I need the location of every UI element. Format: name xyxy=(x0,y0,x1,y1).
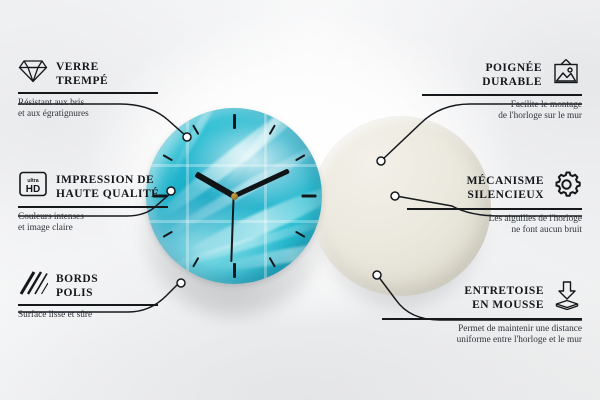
callout-title-line2: TREMPÉ xyxy=(56,74,108,88)
callout-title-line2: SILENCIEUX xyxy=(467,188,544,202)
ultra-hd-icon: ultra HD xyxy=(18,170,48,203)
callout-rule xyxy=(422,94,582,96)
callout-desc-line1: Résistant aux bris xyxy=(18,98,158,110)
callout-rule xyxy=(382,318,582,320)
gear-icon xyxy=(552,170,582,205)
callout-desc-line2: de l'horloge sur le mur xyxy=(422,111,582,123)
callout-title-line1: BORDS xyxy=(56,272,98,286)
callout-desc-line2: et image claire xyxy=(18,223,168,235)
callout-desc-line1: Couleurs intenses xyxy=(18,212,168,224)
callout-title-line2: POLIS xyxy=(56,286,98,300)
svg-text:HD: HD xyxy=(26,184,40,195)
callout-rule xyxy=(407,208,582,210)
callout-verre-trempe: VERRE TREMPÉ Résistant aux bris et aux é… xyxy=(18,58,158,121)
callout-bords-polis: BORDS POLIS Surface lisse et sûre xyxy=(18,270,158,321)
callout-title-line1: VERRE xyxy=(56,60,108,74)
press-down-icon xyxy=(552,280,582,315)
callout-desc-line2: uniforme entre l'horloge et le mur xyxy=(382,335,582,347)
diagonal-stripes-icon xyxy=(18,270,48,301)
callout-title-line2: HAUTE QUALITÉ xyxy=(56,187,159,201)
callout-mecanisme-silencieux: MÉCANISME SILENCIEUX Les aiguilles de l'… xyxy=(407,170,582,237)
picture-frame-icon xyxy=(550,58,582,91)
callout-desc-line2: ne font aucun bruit xyxy=(407,225,582,237)
callout-rule xyxy=(18,92,158,94)
callout-poignee-durable: POIGNÉE DURABLE Facilite le montage de l… xyxy=(422,58,582,123)
callout-title-line1: IMPRESSION DE xyxy=(56,173,159,187)
infographic-canvas: VERRE TREMPÉ Résistant aux bris et aux é… xyxy=(0,0,600,400)
callout-entretoise-en-mousse: ENTRETOISE EN MOUSSE Permet de maintenir… xyxy=(382,280,582,347)
callout-title-line1: MÉCANISME xyxy=(467,174,544,188)
callout-desc-line1: Surface lisse et sûre xyxy=(18,310,158,322)
callout-desc-line1: Facilite le montage xyxy=(422,100,582,112)
diamond-icon xyxy=(18,58,48,89)
callout-rule xyxy=(18,304,158,306)
callout-title-line1: POIGNÉE xyxy=(482,61,542,75)
callout-desc-line1: Les aiguilles de l'horloge xyxy=(407,214,582,226)
callout-impression-haute-qualite: ultra HD IMPRESSION DE HAUTE QUALITÉ Cou… xyxy=(18,170,168,235)
callout-desc-line1: Permet de maintenir une distance xyxy=(382,324,582,336)
callout-title-line2: EN MOUSSE xyxy=(464,298,544,312)
callout-title-line2: DURABLE xyxy=(482,75,542,89)
callout-rule xyxy=(18,206,168,208)
callout-desc-line2: et aux égratignures xyxy=(18,109,158,121)
callout-title-line1: ENTRETOISE xyxy=(464,284,544,298)
